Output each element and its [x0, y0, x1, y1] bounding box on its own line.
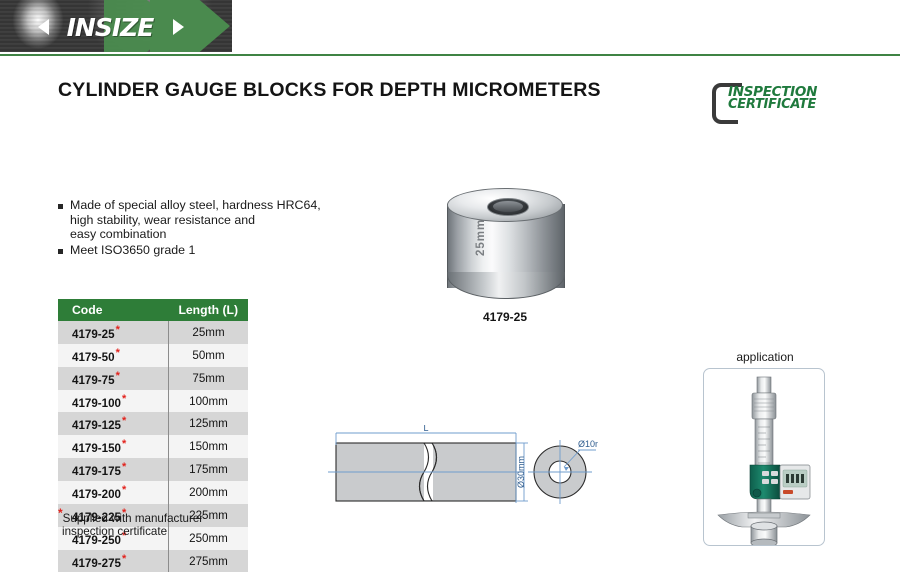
- cell-length: 200mm: [169, 481, 249, 504]
- insize-logo[interactable]: INSIZE: [40, 12, 180, 42]
- required-asterisk: *: [122, 553, 126, 565]
- list-item: Meet ISO3650 grade 1: [58, 243, 348, 258]
- cell-code: 4179-175*: [58, 458, 169, 481]
- cell-code: 4179-75*: [58, 367, 169, 390]
- certificate-line2: CERTIFICATE: [728, 99, 817, 112]
- cell-code: 4179-50*: [58, 344, 169, 367]
- depth-micrometer-illustration: [704, 369, 824, 545]
- cylinder-bottom-edge: [447, 272, 565, 299]
- cell-length: 75mm: [169, 367, 249, 390]
- table-header-row: Code Length (L): [58, 299, 248, 321]
- table-row: 4179-125*125mm: [58, 412, 248, 435]
- cell-length: 125mm: [169, 412, 249, 435]
- header-divider: [0, 54, 900, 56]
- header-banner: INSIZE: [0, 0, 900, 56]
- cell-code: 4179-25*: [58, 321, 169, 344]
- table-row: 4179-200*200mm: [58, 481, 248, 504]
- feature-list: Made of special alloy steel, hardness HR…: [58, 198, 348, 258]
- table-row: 4179-100*100mm: [58, 390, 248, 413]
- table-row: 4179-25*25mm: [58, 321, 248, 344]
- technical-drawing: L Ø30mm Ø10mm: [328, 425, 598, 515]
- footnote-line1: Supplied with manufacturer: [63, 512, 204, 525]
- thimble: [752, 393, 776, 419]
- required-asterisk: *: [116, 324, 120, 336]
- table-row: 4179-150*150mm: [58, 435, 248, 458]
- footnote-line2: inspection certificate: [62, 525, 167, 538]
- table-row: 4179-175*175mm: [58, 458, 248, 481]
- table-row: 4179-75*75mm: [58, 367, 248, 390]
- feature-line: Meet ISO3650 grade 1: [70, 243, 195, 257]
- cell-length: 175mm: [169, 458, 249, 481]
- button-origin: [762, 471, 769, 476]
- feature-text: Made of special alloy steel, hardness HR…: [70, 198, 321, 242]
- cylinder-bore-inner: [493, 201, 523, 212]
- cell-code: 4179-100*: [58, 390, 169, 413]
- inspection-certificate-badge: INSPECTION CERTIFICATE: [712, 82, 830, 120]
- cell-code: 4179-150*: [58, 435, 169, 458]
- lcd-indicator: [783, 490, 793, 494]
- required-asterisk: *: [122, 438, 126, 450]
- left-arrow-icon: [38, 19, 49, 35]
- required-asterisk: *: [116, 370, 120, 382]
- lower-shaft: [757, 499, 771, 513]
- base-collar: [748, 513, 780, 518]
- right-arrow-icon: [173, 19, 184, 35]
- application-label: application: [700, 350, 830, 364]
- product-caption: 4179-25: [425, 310, 585, 324]
- certificate-text: INSPECTION CERTIFICATE: [728, 86, 817, 111]
- gauge-block-bottom: [751, 539, 777, 545]
- cell-code: 4179-200*: [58, 481, 169, 504]
- required-asterisk: *: [122, 484, 126, 496]
- feature-text: Meet ISO3650 grade 1: [70, 243, 195, 258]
- length-label: L: [423, 425, 428, 433]
- column-header-code: Code: [58, 299, 169, 321]
- button-unit: [771, 479, 778, 484]
- page-title: CYLINDER GAUGE BLOCKS FOR DEPTH MICROMET…: [58, 79, 601, 102]
- feature-line: Made of special alloy steel, hardness HR…: [70, 198, 321, 212]
- gauge-block-top: [751, 522, 777, 530]
- table-footnote: *Supplied with manufacturer inspection c…: [58, 507, 298, 539]
- column-header-length: Length (L): [169, 299, 249, 321]
- button-mode: [762, 479, 769, 484]
- drawing-svg: L Ø30mm Ø10mm: [328, 425, 598, 515]
- required-asterisk: *: [122, 393, 126, 405]
- bullet-square-icon: [58, 249, 63, 254]
- outer-diameter-label: Ø30mm: [516, 456, 526, 488]
- required-asterisk: *: [122, 461, 126, 473]
- product-photo: 25mm: [425, 168, 585, 298]
- table-row: 4179-50*50mm: [58, 344, 248, 367]
- cell-length: 100mm: [169, 390, 249, 413]
- bullet-square-icon: [58, 204, 63, 209]
- housing-knob: [753, 489, 761, 497]
- cell-code: 4179-125*: [58, 412, 169, 435]
- table-head: Code Length (L): [58, 299, 248, 321]
- list-item: Made of special alloy steel, hardness HR…: [58, 198, 348, 242]
- feature-line: high stability, wear resistance and: [70, 213, 255, 227]
- cell-length: 25mm: [169, 321, 249, 344]
- cell-length: 150mm: [169, 435, 249, 458]
- required-asterisk: *: [116, 347, 120, 359]
- required-asterisk: *: [122, 415, 126, 427]
- inner-diameter-label: Ø10mm: [578, 439, 598, 449]
- brand-name: INSIZE: [67, 15, 154, 40]
- application-panel: [703, 368, 825, 546]
- cell-length: 50mm: [169, 344, 249, 367]
- feature-line: easy combination: [70, 227, 166, 241]
- cylinder-engraving: 25mm: [475, 216, 491, 256]
- spindle-cap: [757, 377, 771, 393]
- button-zero: [771, 471, 778, 476]
